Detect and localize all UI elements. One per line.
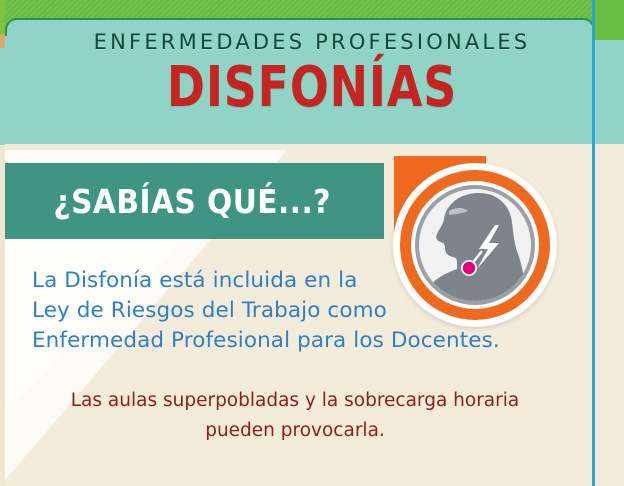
left-edge-strip [0,0,5,486]
page-title: DISFONÍAS [56,57,568,119]
body-text-red: Las aulas superpobladas y la sobrecarga … [40,386,550,446]
infographic-poster: ENFERMEDADES PROFESIONALES DISFONÍAS ¿SA… [0,0,624,486]
did-you-know-banner: ¿SABÍAS QUÉ...? [0,163,384,239]
blue-line-1: La Disfonía está incluida en la [32,266,552,296]
blue-line-3: Enfermedad Profesional para los Docentes… [32,326,552,356]
red-line-2: pueden provocarla. [40,416,550,446]
red-line-1: Las aulas superpobladas y la sobrecarga … [40,386,550,416]
blue-line-2: Ley de Riesgos del Trabajo como [32,296,552,326]
right-margin-teal [595,40,624,144]
header-kicker: ENFERMEDADES PROFESIONALES [0,30,624,54]
right-vertical-rule [592,0,595,486]
did-you-know-label: ¿SABÍAS QUÉ...? [53,182,330,221]
body-text-blue: La Disfonía está incluida en la Ley de R… [32,266,552,356]
right-margin-green [595,0,624,40]
